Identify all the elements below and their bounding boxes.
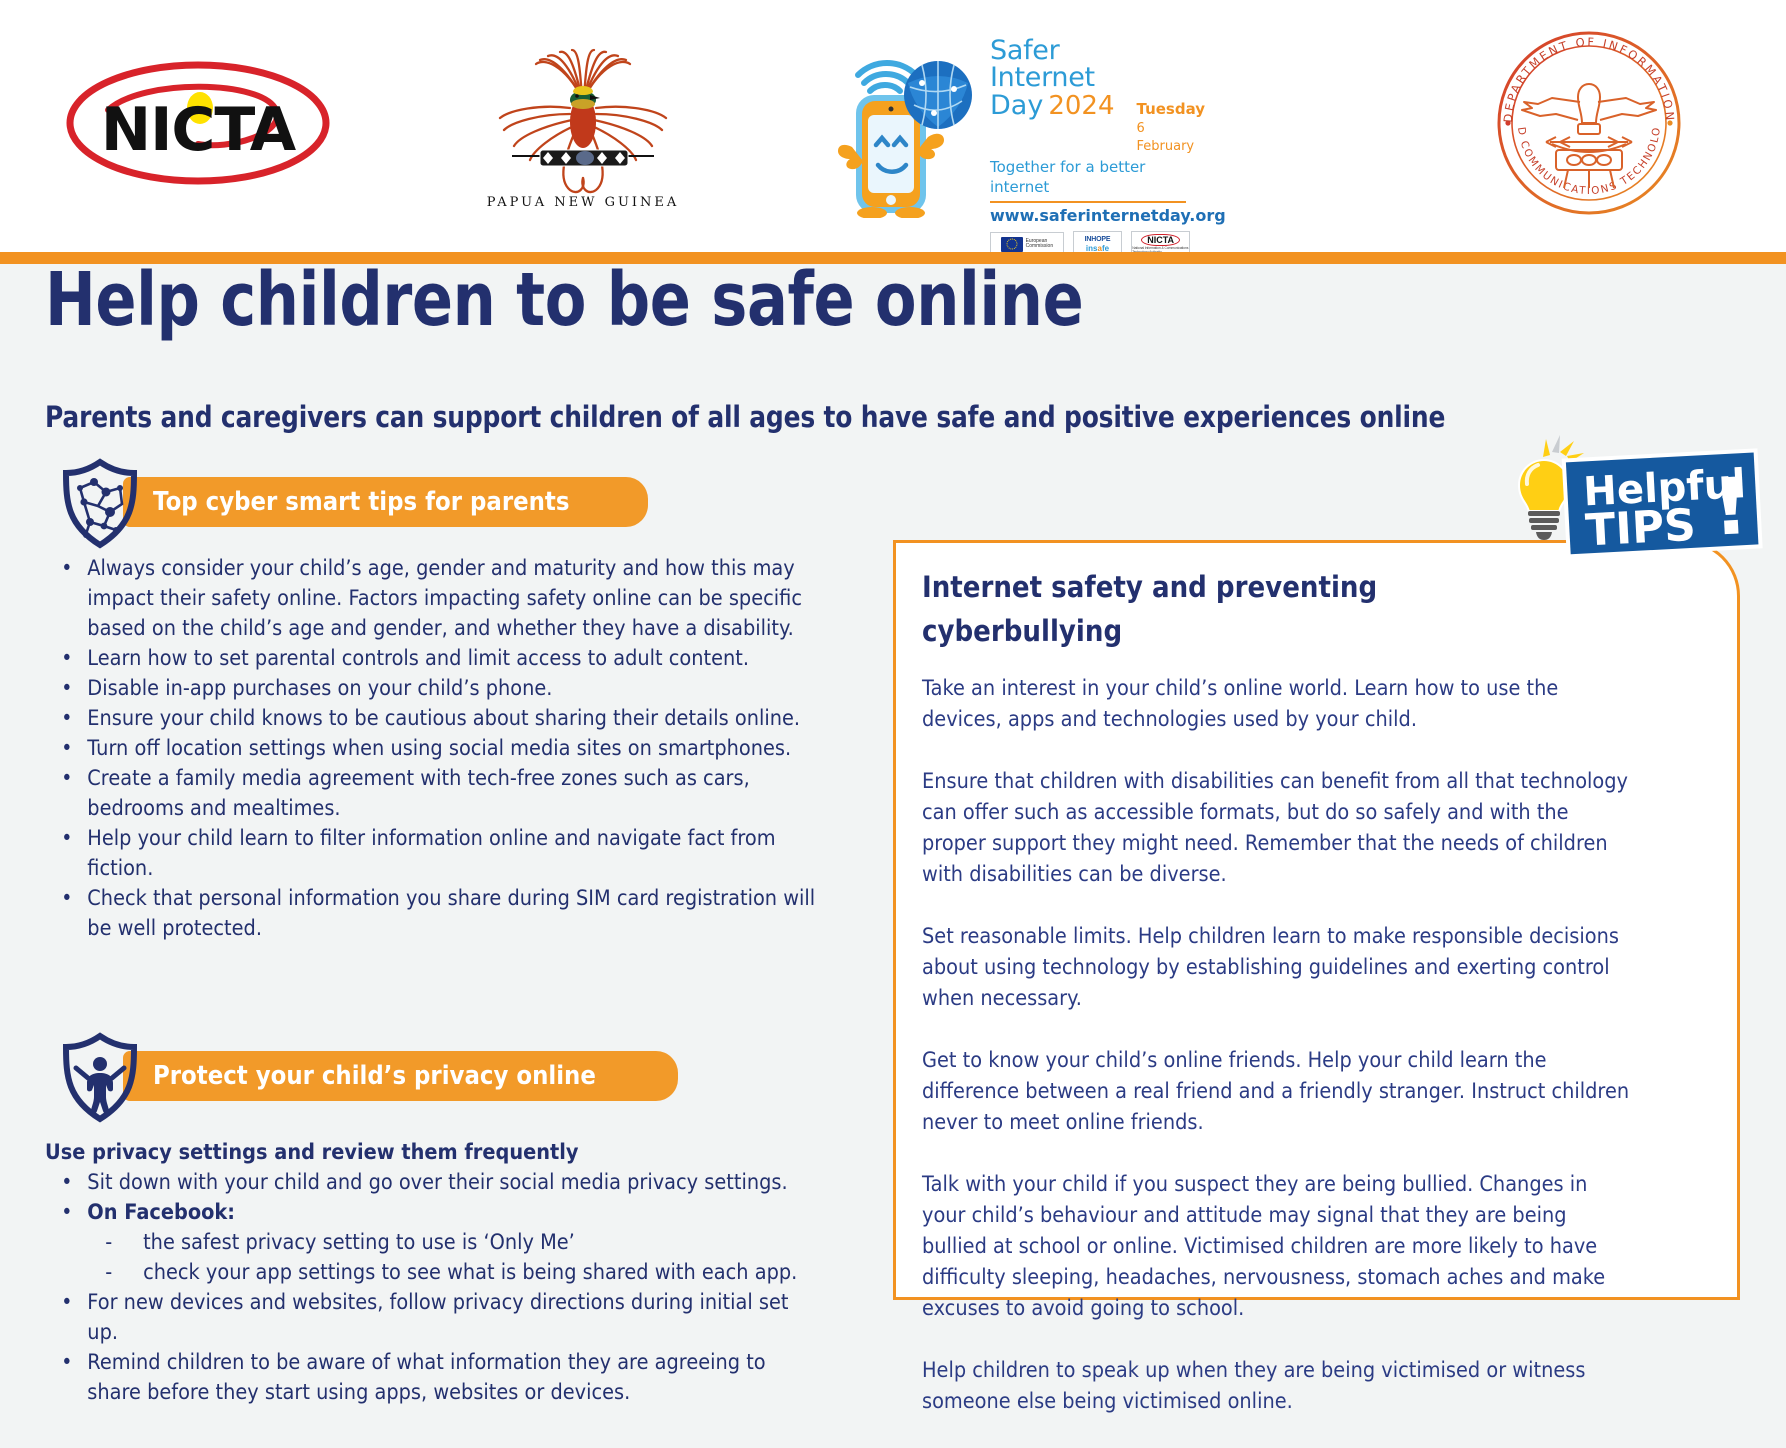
list-item: Ensure your child knows to be cautious a… [45,704,824,734]
page-title: Help children to be safe online [45,256,1193,344]
dict-seal-logo: DEPARTMENT OF INFORMATION AND COMMUNICAT… [1494,28,1684,218]
list-item: Sit down with your child and go over the… [45,1168,824,1198]
privacy-facebook-label: On Facebook: [87,1200,235,1225]
badge-protect-privacy: Protect your child’s privacy online [123,1051,678,1101]
privacy-bullet-list: Sit down with your child and go over the… [45,1168,824,1408]
helpful-tips-line2: TIPS [1584,500,1697,557]
sid-year: 2024 [1048,92,1114,121]
sid-line-2: Internet [990,64,1190,91]
card-paragraph: Ensure that children with disabilities c… [922,766,1633,890]
eu-flag-icon [1001,237,1023,252]
sid-date: Tuesday 6 February [1137,101,1206,155]
section-header-tips: Top cyber smart tips for parents [45,468,825,542]
sid-rule [990,201,1186,203]
privacy-content: Use privacy settings and review them fre… [45,1138,824,1408]
network-shield-icon [60,458,140,550]
european-commission-label: EuropeanCommission [1026,239,1054,250]
helpful-tips-exclamation: ! [1710,462,1750,554]
card-paragraph: Take an interest in your child’s online … [922,673,1633,735]
card-paragraph: Get to know your child’s online friends.… [922,1045,1633,1138]
list-item: Turn off location settings when using so… [45,734,824,764]
sid-url[interactable]: www.saferinternetday.org [990,206,1190,225]
png-coat-of-arms: PAPUA NEW GUINEA [478,38,688,213]
card-title: Internet safety and preventing cyberbull… [922,565,1390,653]
list-item: For new devices and websites, follow pri… [45,1288,824,1348]
list-item: the safest privacy setting to use is ‘On… [87,1228,824,1258]
list-item: Learn how to set parental controls and l… [45,644,824,674]
sid-date-day: Tuesday [1137,100,1206,118]
sid-day-year-row: Day 2024 Tuesday 6 February [990,91,1190,155]
badge-label-tips: Top cyber smart tips for parents [153,487,569,517]
list-item: Remind children to be aware of what info… [45,1348,824,1408]
list-item: On Facebook: the safest privacy setting … [45,1198,824,1288]
helpful-tips-badge: Helpful TIPS ! [1460,425,1770,565]
card-body: Take an interest in your child’s online … [922,673,1633,1448]
nicta-logo: NICTA [48,58,348,188]
sid-tagline: Together for a better internet [990,157,1190,197]
card-paragraph: Set reasonable limits. Help children lea… [922,921,1633,1014]
nicta-partner-label: NICTA [1141,234,1180,246]
sid-mascot-icon [830,43,980,218]
section-header-privacy: Protect your child’s privacy online [45,1042,825,1116]
sid-date-num: 6 February [1137,121,1195,154]
child-shield-icon [60,1032,140,1124]
badge-top-cyber-smart-tips: Top cyber smart tips for parents [123,477,648,527]
list-item: Disable in-app purchases on your child’s… [45,674,824,704]
list-item: Help your child learn to filter informat… [45,824,824,884]
poster-page: NICTA [0,0,1786,1297]
badge-label-privacy: Protect your child’s privacy online [153,1061,596,1091]
card-paragraph: Talk with your child if you suspect they… [922,1169,1633,1324]
header-band: NICTA [0,0,1786,258]
card-paragraph: Help children to speak up when they are … [922,1355,1633,1417]
list-item: Always consider your child’s age, gender… [45,554,824,644]
privacy-subheading: Use privacy settings and review them fre… [45,1138,824,1168]
list-item: Check that personal information you shar… [45,884,824,944]
list-item: Create a family media agreement with tec… [45,764,824,824]
list-item: check your app settings to see what is b… [87,1258,824,1288]
svg-text:NICTA: NICTA [101,95,297,165]
sid-day-word: Day [990,91,1043,120]
sid-text-block: Safer Internet Day 2024 Tuesday 6 Februa… [990,37,1190,257]
privacy-sub-list: the safest privacy setting to use is ‘On… [87,1228,824,1288]
page-subtitle: Parents and caregivers can support child… [45,400,1550,434]
tips-bullet-list-wrap: Always consider your child’s age, gender… [45,554,824,944]
internet-safety-card: Internet safety and preventing cyberbull… [893,540,1740,1300]
left-column: Top cyber smart tips for parents Always … [45,468,825,1408]
sid-line-1: Safer [990,37,1190,64]
crest-caption: PAPUA NEW GUINEA [487,195,680,210]
safer-internet-day-logo: Safer Internet Day 2024 Tuesday 6 Februa… [830,25,1190,220]
inhope-label: INHOPE [1085,236,1111,244]
tips-bullet-list: Always consider your child’s age, gender… [45,554,824,944]
